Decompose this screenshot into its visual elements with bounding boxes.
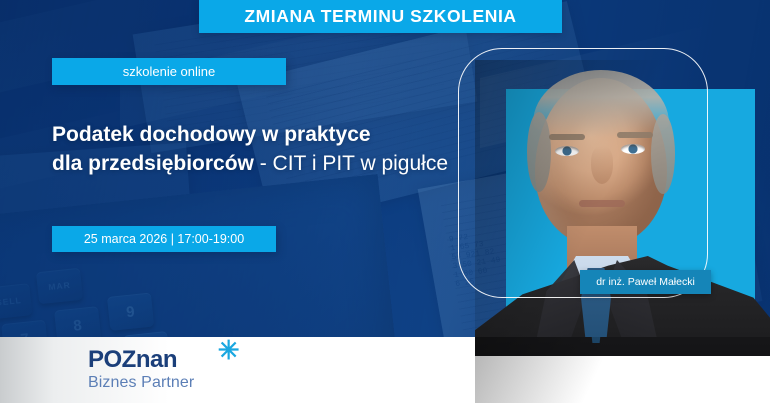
- promo-banner-image: 9 72 1 65 73 54 921 82 3 50 21 49 1 80 6…: [0, 0, 770, 403]
- date-time-badge: 25 marca 2026 | 17:00-19:00: [52, 226, 276, 252]
- poznan-biznes-partner-logo: POZnan ✳ Biznes Partner: [88, 347, 228, 395]
- change-of-date-banner: ZMIANA TERMINU SZKOLENIA: [199, 0, 562, 33]
- photo-frame-outline: [458, 48, 708, 298]
- poznan-subtitle: Biznes Partner: [88, 373, 228, 393]
- title-line-2-regular: - CIT i PIT w pigułce: [254, 152, 448, 175]
- speaker-name-label: dr inż. Paweł Małecki: [596, 276, 695, 288]
- banner-text: ZMIANA TERMINU SZKOLENIA: [244, 6, 516, 27]
- poznan-wordmark-text: POZnan: [88, 346, 177, 373]
- portrait-suit-over-footer: [475, 337, 770, 403]
- speaker-name-badge: dr inż. Paweł Małecki: [580, 270, 711, 294]
- date-time-label: 25 marca 2026 | 17:00-19:00: [84, 232, 244, 246]
- portrait-suit-lower: [475, 337, 770, 356]
- title-line-2-bold: dla przedsiębiorców: [52, 152, 254, 175]
- asterisk-icon: ✳: [218, 337, 239, 363]
- page-title: Podatek dochodowy w praktyce dla przedsi…: [52, 120, 472, 178]
- title-line-1: Podatek dochodowy w praktyce: [52, 120, 472, 149]
- poznan-wordmark: POZnan ✳: [88, 347, 228, 373]
- online-training-badge: szkolenie online: [52, 58, 286, 85]
- online-training-label: szkolenie online: [123, 64, 216, 79]
- title-line-2: dla przedsiębiorców - CIT i PIT w pigułc…: [52, 149, 472, 178]
